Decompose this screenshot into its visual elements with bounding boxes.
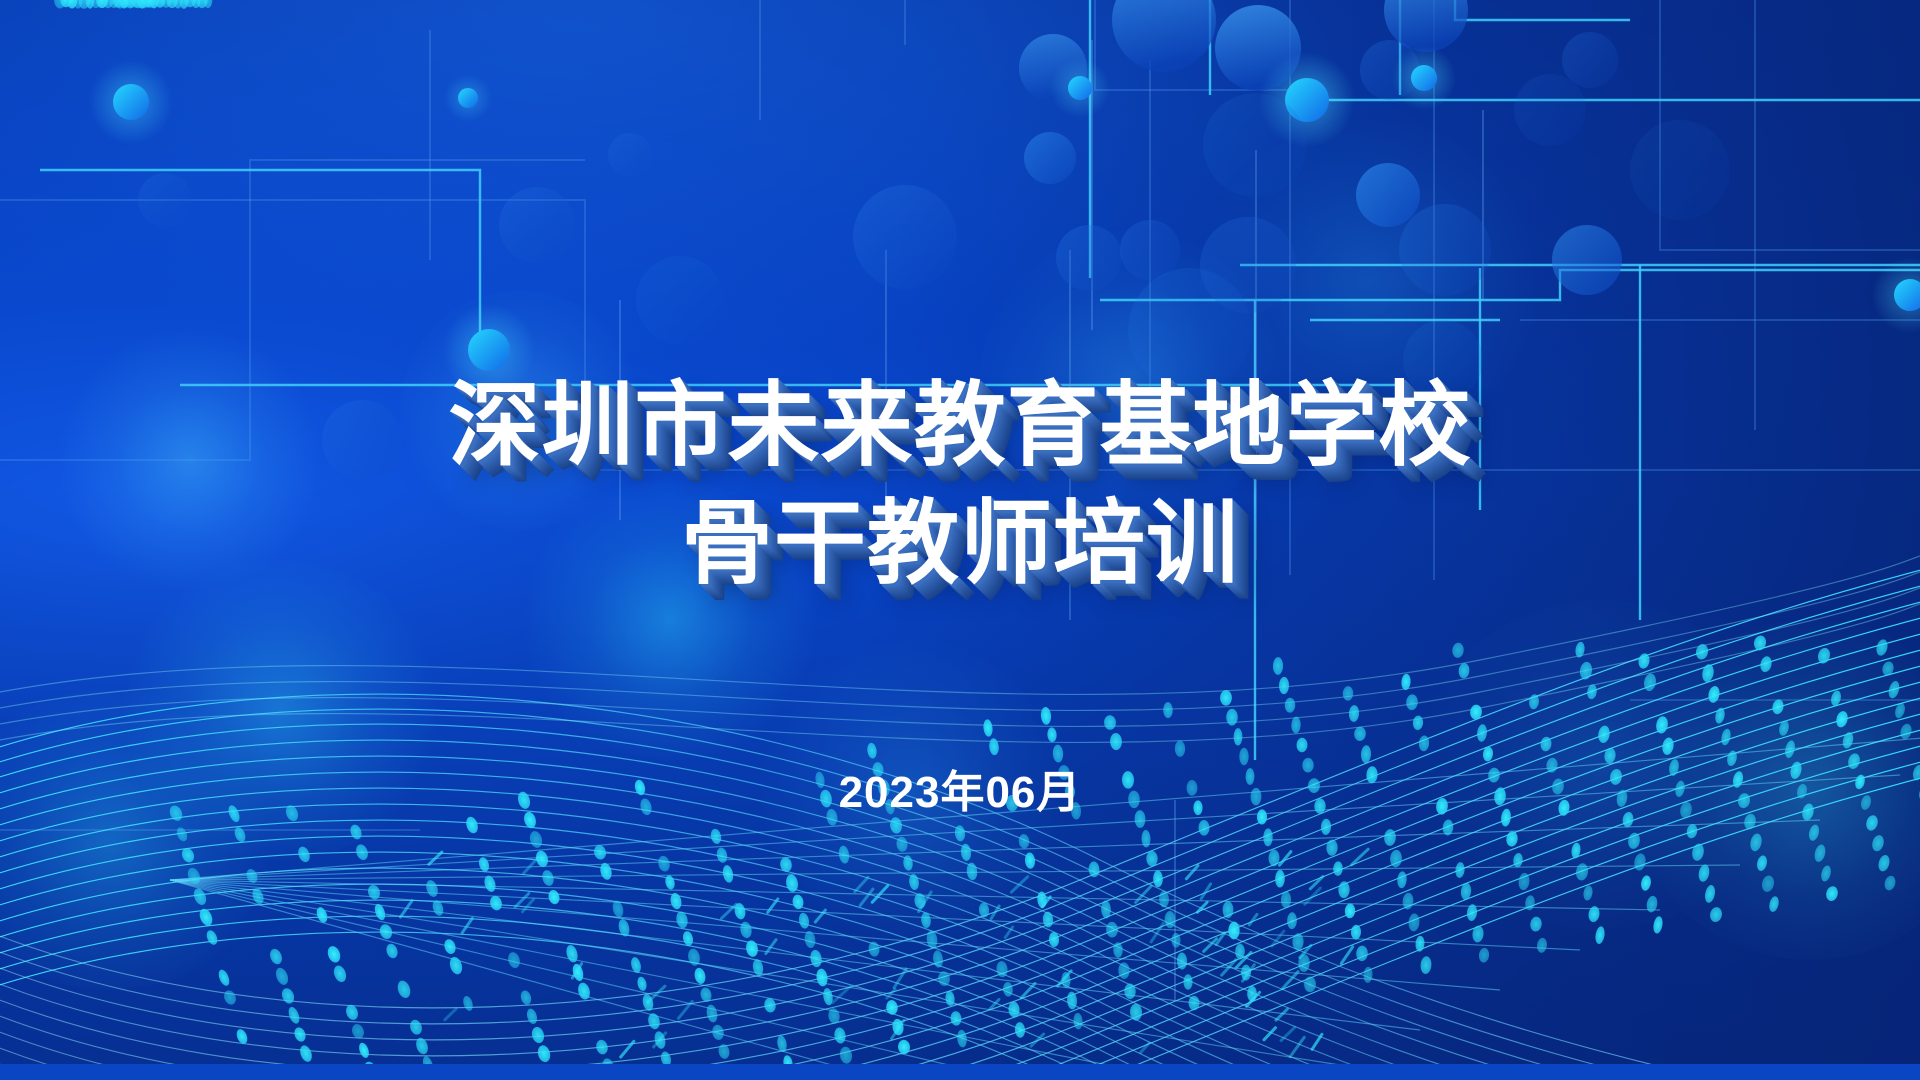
slide-title-line-2: 骨干教师培训	[0, 486, 1920, 604]
slide-date: 2023年06月	[0, 756, 1920, 820]
slide-title-block: 深圳市未来教育基地学校 骨干教师培训	[0, 368, 1920, 604]
slide-title-line-1: 深圳市未来教育基地学校	[0, 368, 1920, 486]
slide-content: 深圳市未来教育基地学校 骨干教师培训 2023年06月	[0, 0, 1920, 1080]
title-slide: 深圳市未来教育基地学校 骨干教师培训 2023年06月	[0, 0, 1920, 1080]
